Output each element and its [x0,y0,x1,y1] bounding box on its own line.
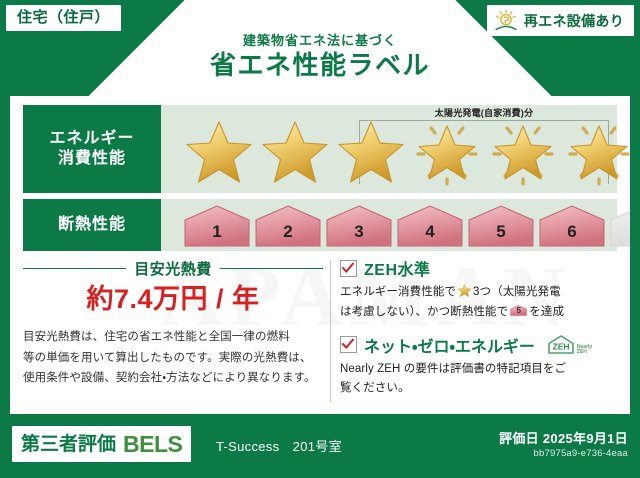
insulation-level-value: 4 [396,222,464,242]
label-body-card: APAMAN エネルギー 消費性能 太陽光発電(自家消費)分 [10,96,630,414]
renewable-equipment-badge: 再エネ設備あり [487,5,634,36]
zeh-standard-title: ZEH水準 [364,256,431,280]
insulation-level-value: 3 [325,222,393,242]
star-icon [183,116,255,188]
evaluation-date: 評価日 2025年9月1日 [499,428,628,447]
zeh-standard-text-a: エネルギー消費性能で [340,286,456,298]
insulation-performance-row: 断熱性能 1 [23,199,617,251]
evaluation-date-label: 評価日 [499,431,539,446]
house-icon-inactive: 7 [609,204,630,248]
star-icon [335,116,407,188]
zeh-standard-body: エネルギー消費性能で 3つ（太陽光発電 は考慮しない）、かつ断熱性能で 5 を達… [340,283,618,323]
bels-en-label: BELS [123,433,182,456]
sun-solar-icon [493,9,519,33]
title-subtitle: 建築物省エネ法に基づく [0,34,640,48]
insulation-level-scale: 1 2 3 [183,202,630,248]
zeh-standard-block: ZEH水準 エネルギー消費性能で 3つ（太陽光発電 は考慮しない）、かつ断熱性能… [340,256,618,323]
zeh-standard-star-count: 3つ（太陽光発電 [473,286,561,298]
house-icon: 5 [510,303,527,318]
heading-rule-left [23,268,126,269]
insulation-level-value: 2 [254,222,322,242]
utility-cost-note: 目安光熱費は、住宅の省エネ性能と全国一律の燃料 等の単価を用いて算出したものです… [23,327,323,387]
utility-cost-note-line3: 使用条件や設備、契約会社・方法などにより異なります。 [23,368,323,388]
utility-cost-heading: 目安光熱費 [134,258,212,279]
insulation-rating-panel: 1 2 3 [161,199,617,251]
zeh-standard-heading: ZEH水準 [340,256,618,280]
sparkle-star-icon [563,116,630,188]
zeh-standard-house-level: 5 [510,304,527,318]
title-main: 省エネ性能ラベル [0,51,640,80]
star-icon [259,116,331,188]
energy-performance-row: エネルギー 消費性能 太陽光発電(自家消費)分 [23,105,617,193]
zeh-logo-sub2: ZEH [577,349,587,355]
evaluation-id: bb7975a9-e736-4eaa [534,448,628,459]
net-zero-energy-body-line1: Nearly ZEH の要件は評価書の特記項目をご [340,360,618,380]
net-zero-energy-body: Nearly ZEH の要件は評価書の特記項目をご 覧ください。 [340,360,618,400]
evaluation-date-value: 2025年9月1日 [543,431,628,446]
zeh-logo-sub: Nearly ZEH [577,345,592,356]
star-icon [457,283,472,298]
house-icon: 6 [538,204,606,248]
utility-cost-section: 目安光熱費 約7.4万円 / 年 目安光熱費は、住宅の省エネ性能と全国一律の燃料… [23,258,323,404]
housing-type-tag: 住宅（住戸） [6,5,121,31]
bels-logo: 第三者評価 BELS [12,426,191,462]
insulation-level-value: 7 [609,222,630,242]
utility-cost-note-line1: 目安光熱費は、住宅の省エネ性能と全国一律の燃料 [23,327,323,347]
check-icon [340,336,357,353]
energy-performance-label: 住宅（住戸） 再エネ設備あり 建築物省エネ法に基づく 省エネ性能ラベル AP [0,0,640,478]
label-footer: 第三者評価 BELS T-Success 201号室 評価日 2025年9月1日… [0,414,640,478]
house-icon: 4 [396,204,464,248]
building-name: T-Success 201号室 [216,436,342,455]
net-zero-energy-heading: ネット・ゼロ・エネルギー ZEH Nearly ZEH [340,333,618,357]
sparkle-star-icon [411,116,483,188]
zeh-standard-text-c: を達成 [529,306,564,318]
utility-cost-note-line2: 等の単価を用いて算出したものです。実際の光熱費は、 [23,348,323,368]
energy-rating-panel: 太陽光発電(自家消費)分 [161,105,617,193]
zeh-standard-text-b: は考慮しない）、かつ断熱性能で [340,306,508,318]
heading-rule-right [220,268,323,269]
energy-label-line1: エネルギー [49,129,134,149]
insulation-level-value: 5 [467,222,535,242]
net-zero-energy-title: ネット・ゼロ・エネルギー [364,333,535,357]
label-title-block: 建築物省エネ法に基づく 省エネ性能ラベル [0,34,640,80]
svg-text:ZEH: ZEH [552,341,569,351]
energy-star-rating [183,113,609,191]
zeh-section: ZEH水準 エネルギー消費性能で 3つ（太陽光発電 は考慮しない）、かつ断熱性能… [340,256,618,406]
insulation-level-value: 1 [183,222,251,242]
utility-cost-value: 約7.4万円 / 年 [23,283,323,315]
column-divider [330,260,331,402]
sparkle-star-icon [487,116,559,188]
house-icon: 2 [254,204,322,248]
insulation-level-value: 6 [538,222,606,242]
house-icon: 1 [183,204,251,248]
insulation-performance-label: 断熱性能 [23,199,161,251]
net-zero-energy-block: ネット・ゼロ・エネルギー ZEH Nearly ZEH Nearly ZEH の… [340,333,618,400]
energy-label-line2: 消費性能 [49,149,134,169]
renewable-badge-label: 再エネ設備あり [524,11,624,31]
check-icon [340,260,357,277]
house-icon: 5 [467,204,535,248]
house-icon: 3 [325,204,393,248]
zeh-house-logo-icon: ZEH Nearly ZEH [546,334,592,356]
net-zero-energy-body-line2: 覧ください。 [340,379,618,399]
energy-performance-label: エネルギー 消費性能 [23,105,161,193]
bels-jp-label: 第三者評価 [21,435,116,454]
utility-cost-heading-row: 目安光熱費 [23,258,323,279]
